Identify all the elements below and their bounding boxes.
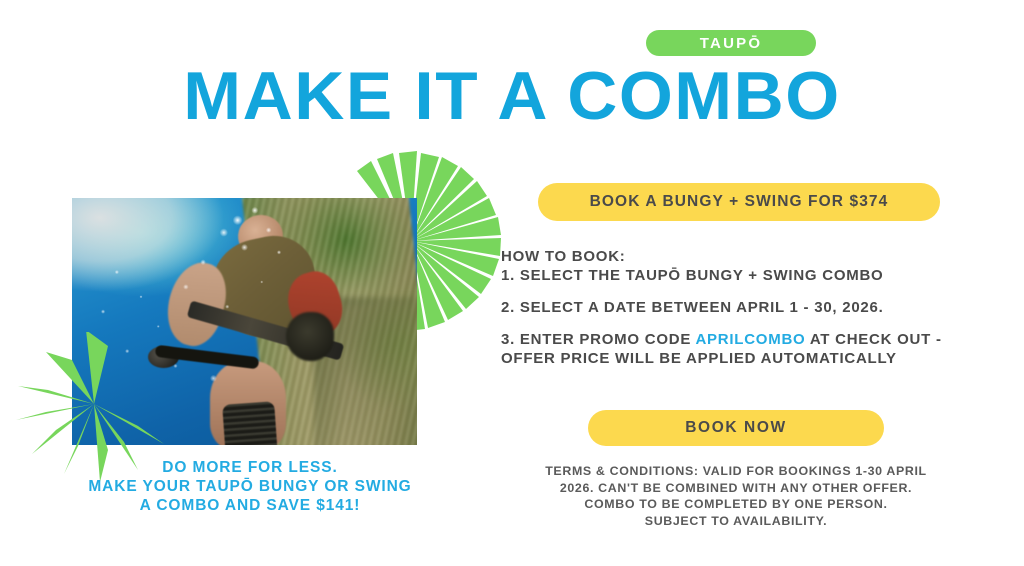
price-banner[interactable]: BOOK A BUNGY + SWING FOR $374 [538,183,940,221]
step-3-suffix: AT CHECK OUT - [805,331,941,348]
book-now-button[interactable]: BOOK NOW [588,410,884,446]
terms-and-conditions: TERMS & CONDITIONS: VALID FOR BOOKINGS 1… [506,463,966,529]
how-to-book-step-1: 1. SELECT THE TAUPŌ BUNGY + SWING COMBO [501,266,971,285]
promo-caption: DO MORE FOR LESS. MAKE YOUR TAUPŌ BUNGY … [60,458,440,515]
terms-line-2: 2026. CAN'T BE COMBINED WITH ANY OTHER O… [506,480,966,497]
spacer-2 [501,317,971,330]
promo-caption-line-3: A COMBO AND SAVE $141! [60,496,440,515]
step-3-prefix: 3. ENTER PROMO CODE [501,331,695,348]
spacer-1 [501,285,971,298]
promo-banner: TAUPŌ MAKE IT A COMBO DO MORE FOR LESS. … [0,0,1024,566]
promo-caption-line-2: MAKE YOUR TAUPŌ BUNGY OR SWING [60,477,440,496]
price-banner-label: BOOK A BUNGY + SWING FOR $374 [590,193,889,211]
location-badge-label: TAUPŌ [700,35,762,52]
how-to-book-list: HOW TO BOOK: 1. SELECT THE TAUPŌ BUNGY +… [501,247,971,368]
book-now-button-label: BOOK NOW [685,419,787,437]
promo-caption-line-1: DO MORE FOR LESS. [60,458,440,477]
page-title: MAKE IT A COMBO [0,62,1024,130]
how-to-book-step-3: 3. ENTER PROMO CODE APRILCOMBO AT CHECK … [501,330,971,349]
how-to-book-step-3-line-2: OFFER PRICE WILL BE APPLIED AUTOMATICALL… [501,349,971,368]
how-to-book-step-2: 2. SELECT A DATE BETWEEN APRIL 1 - 30, 2… [501,298,971,317]
location-badge: TAUPŌ [646,30,816,56]
terms-line-4: SUBJECT TO AVAILABILITY. [506,513,966,530]
how-to-book-title: HOW TO BOOK: [501,247,971,266]
terms-line-3: COMBO TO BE COMPLETED BY ONE PERSON. [506,496,966,513]
promo-code: APRILCOMBO [695,331,805,348]
terms-line-1: TERMS & CONDITIONS: VALID FOR BOOKINGS 1… [506,463,966,480]
